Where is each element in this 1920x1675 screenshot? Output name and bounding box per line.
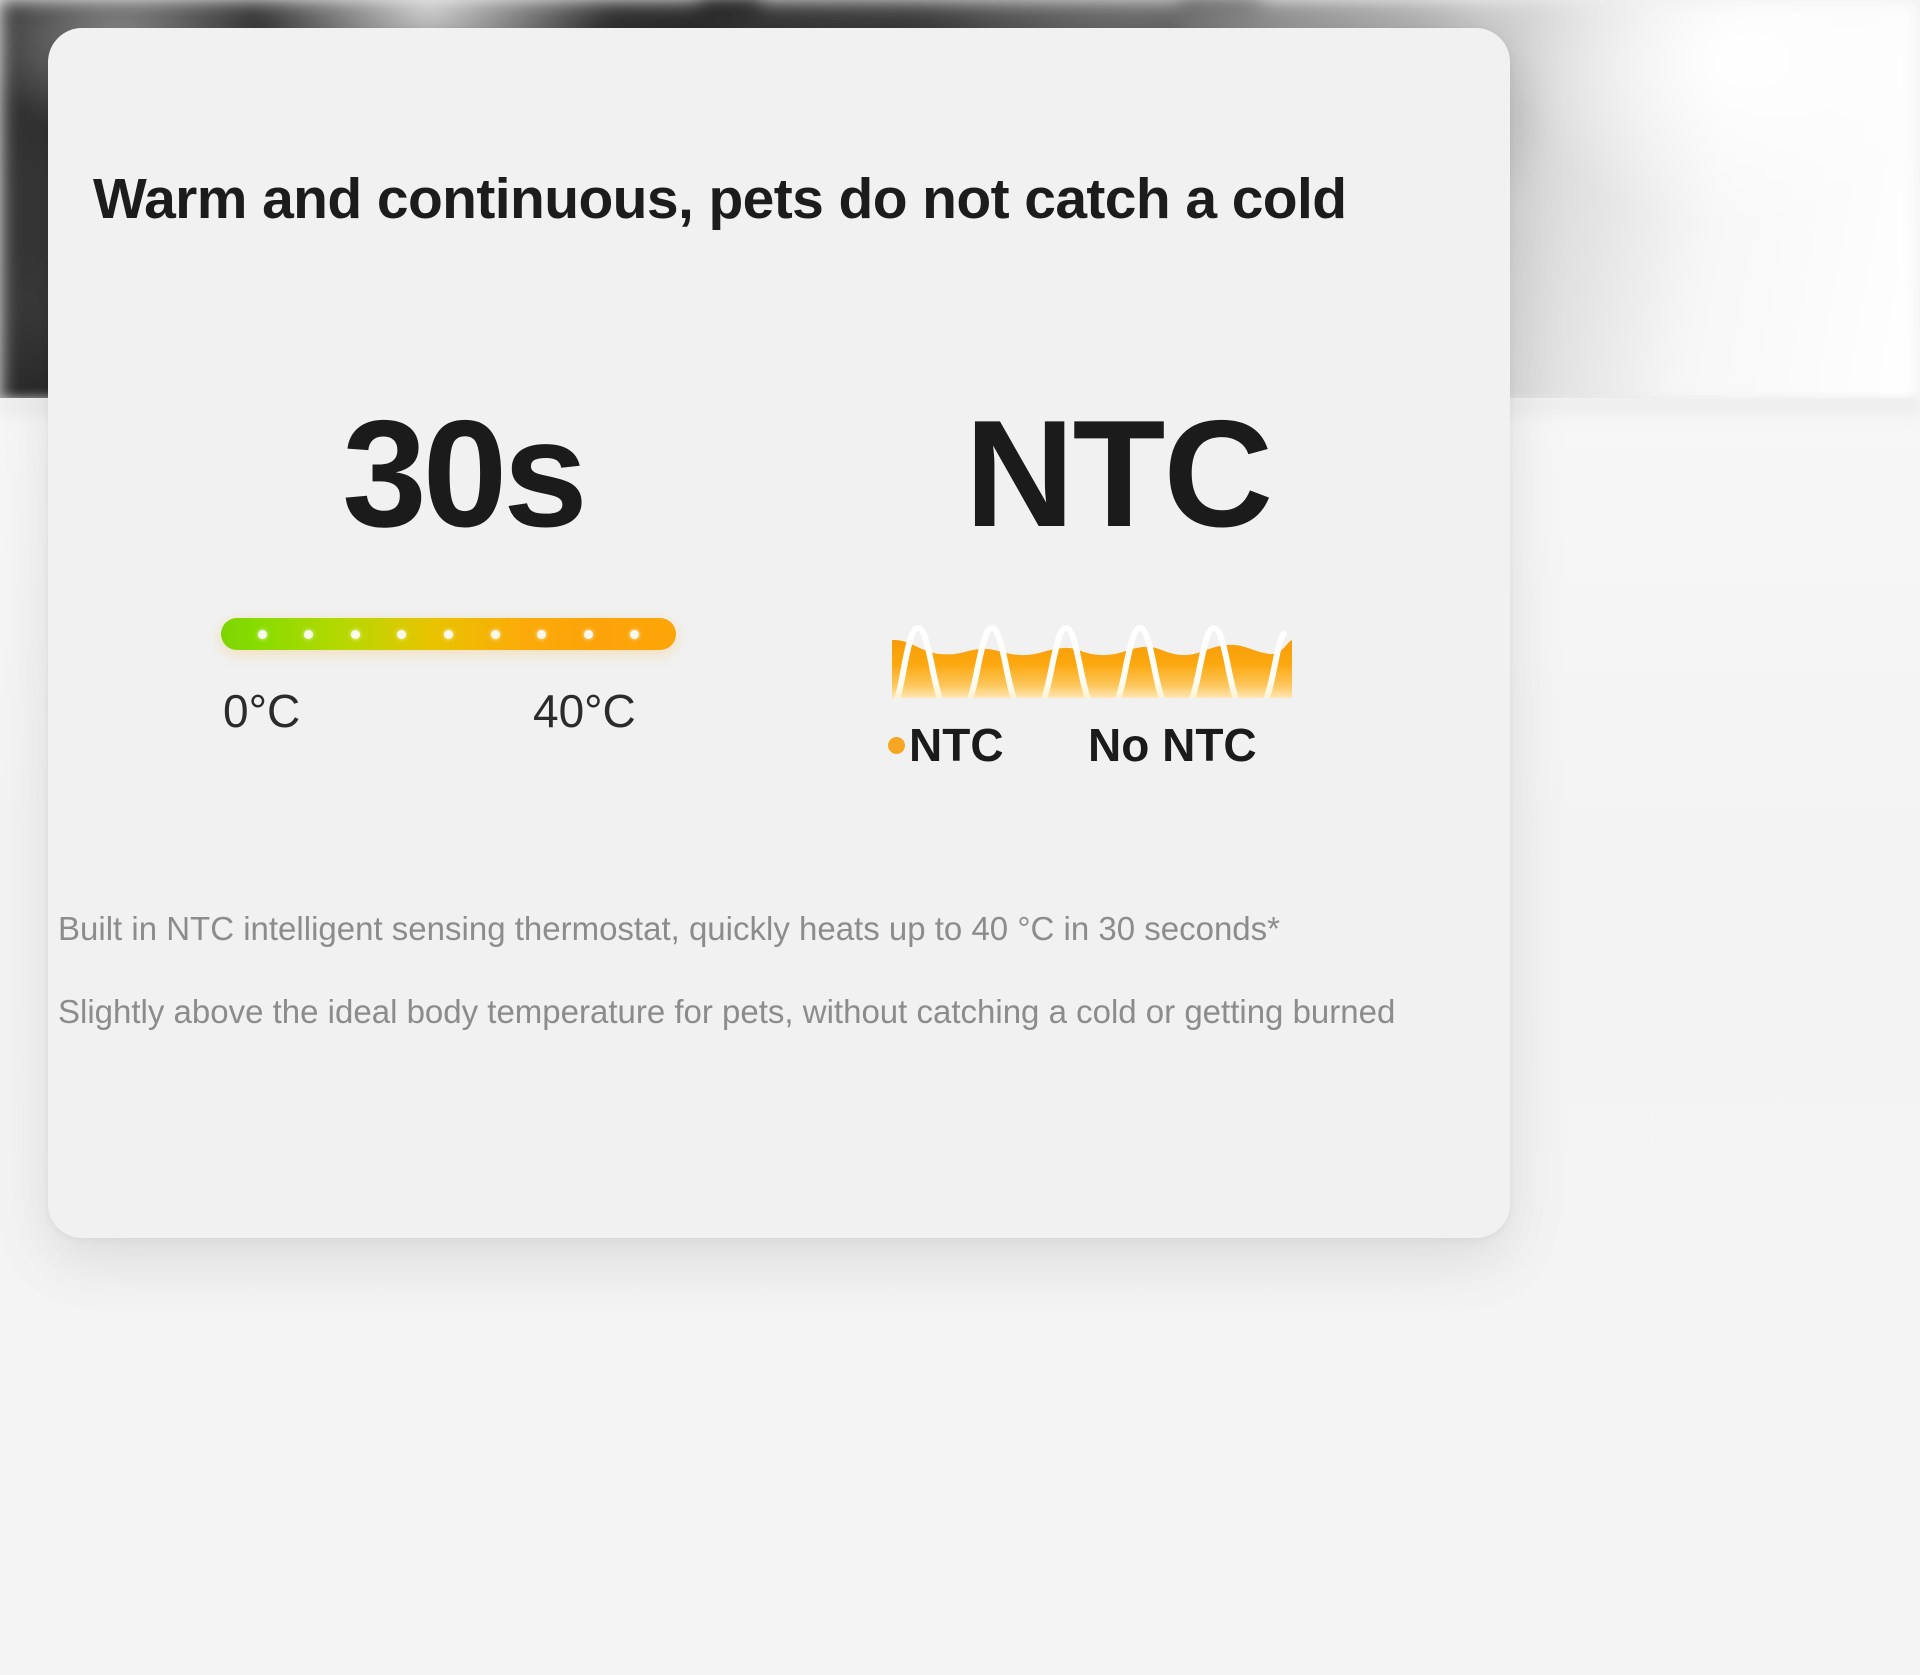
ntc-legend: NTC No NTC xyxy=(888,718,1308,778)
gradient-bar-dot xyxy=(537,630,546,639)
gradient-bar-dot xyxy=(584,630,593,639)
gradient-bar-dot xyxy=(397,630,406,639)
gradient-bar-dots xyxy=(221,618,676,650)
body-copy-line-2: Slightly above the ideal body temperatur… xyxy=(58,991,1508,1032)
gradient-bar-dot xyxy=(630,630,639,639)
body-copy: Built in NTC intelligent sensing thermos… xyxy=(58,908,1508,1075)
stat-value-heat-up-time: 30s xyxy=(213,398,713,574)
stat-value-ntc: NTC xyxy=(888,398,1348,574)
temperature-range-labels: 0°C 40°C xyxy=(213,684,683,744)
ntc-legend-label-ntc: NTC xyxy=(909,718,1004,772)
feature-card: Warm and continuous, pets do not catch a… xyxy=(48,28,1510,1238)
stats-row: 30s 0°C xyxy=(48,398,1510,828)
temperature-max-label: 40°C xyxy=(533,684,636,738)
temperature-gradient-bar xyxy=(221,618,676,650)
gradient-bar-dot xyxy=(351,630,360,639)
ntc-bullet-dot-icon xyxy=(888,737,905,754)
stat-ntc-sensor: NTC xyxy=(888,398,1348,778)
gradient-bar-dot xyxy=(258,630,267,639)
gradient-bar-dot xyxy=(491,630,500,639)
temperature-gradient-bar-wrapper xyxy=(213,618,713,658)
ntc-waveform-graphic xyxy=(892,610,1292,698)
temperature-min-label: 0°C xyxy=(223,684,300,738)
stat-heat-up-time: 30s 0°C xyxy=(213,398,713,744)
ntc-legend-item-ntc: NTC xyxy=(888,718,1004,772)
page-title: Warm and continuous, pets do not catch a… xyxy=(93,168,1493,231)
ntc-waveform-svg xyxy=(892,610,1292,698)
ntc-legend-label-no-ntc: No NTC xyxy=(1088,718,1257,772)
gradient-bar-dot xyxy=(444,630,453,639)
gradient-bar-dot xyxy=(304,630,313,639)
ntc-legend-item-no-ntc: No NTC xyxy=(1088,718,1257,772)
body-copy-line-1: Built in NTC intelligent sensing thermos… xyxy=(58,908,1508,949)
